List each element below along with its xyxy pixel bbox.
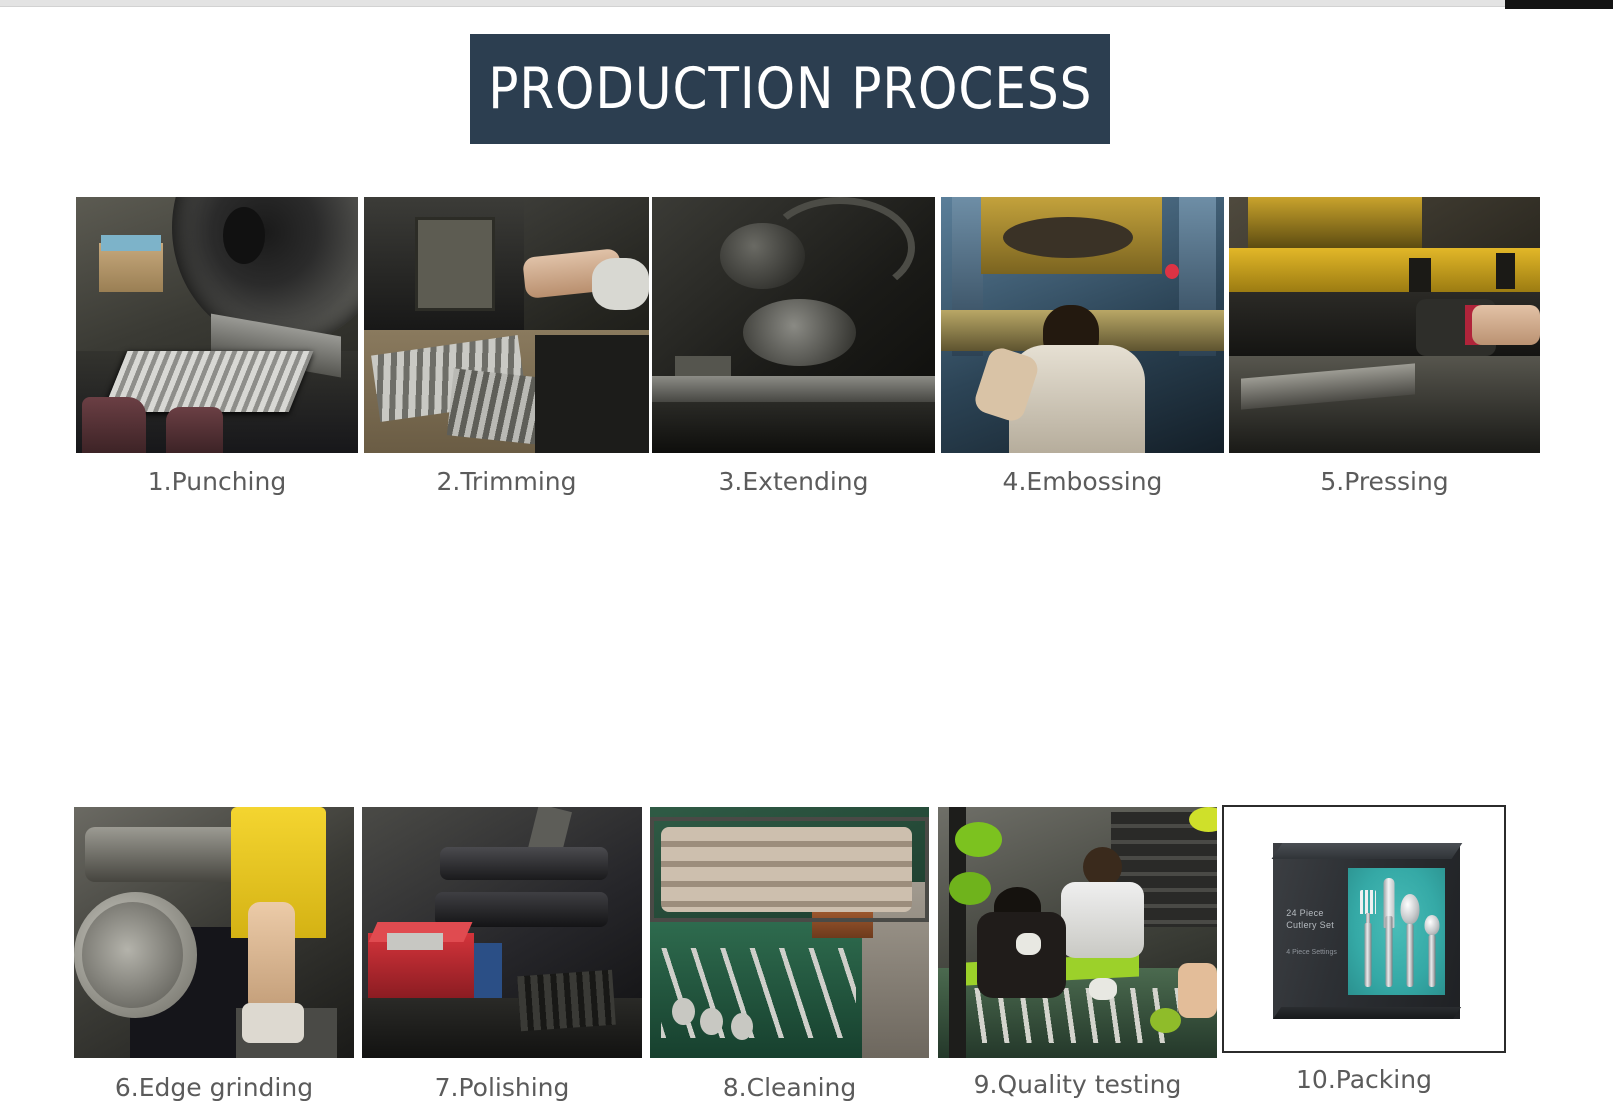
- process-photo-extending[interactable]: [652, 197, 935, 453]
- package-box-shape: 24 Piece Cutlery Set 4 Piece Settings: [1273, 843, 1460, 1019]
- machine-base-shape: [652, 402, 935, 453]
- roller-frame-shape: [650, 817, 929, 922]
- package-product-title-line2: Cutlery Set: [1286, 919, 1334, 931]
- worker-2-glove-shape: [1089, 978, 1117, 1001]
- page-title-banner: PRODUCTION PROCESS: [470, 34, 1110, 144]
- process-caption-packing: 10.Packing: [1296, 1067, 1432, 1092]
- worker-glove-left-shape: [82, 397, 147, 453]
- process-caption-cleaning: 8.Cleaning: [723, 1075, 856, 1100]
- indicator-light-shape: [1165, 264, 1179, 279]
- product-package: 24 Piece Cutlery Set 4 Piece Settings: [1260, 831, 1473, 1031]
- cylinder-shape: [743, 299, 856, 366]
- worker-leg-shape: [535, 335, 649, 453]
- process-step-extending[interactable]: 3.Extending: [652, 197, 935, 494]
- process-photo-embossing[interactable]: [941, 197, 1224, 453]
- process-caption-polishing: 7.Polishing: [435, 1075, 570, 1100]
- package-insert-shape: [1348, 868, 1445, 995]
- browser-top-strip: [0, 0, 1613, 7]
- process-row-2: 6.Edge grinding 7.Polishing: [0, 485, 1613, 815]
- carton-lid-shape: [101, 235, 160, 250]
- process-photo-packing[interactable]: 24 Piece Cutlery Set 4 Piece Settings: [1222, 805, 1506, 1053]
- worker-glove-right-shape: [166, 407, 222, 453]
- flywheel-hub-shape: [223, 207, 265, 263]
- yellow-press-bar-shape: [1229, 248, 1540, 292]
- teaspoon-bowl-shape: [1424, 915, 1439, 935]
- teaspoon-handle-shape: [1428, 935, 1435, 987]
- fork-handle-shape: [1365, 923, 1372, 987]
- worker-arm-shape: [1472, 305, 1540, 346]
- spoon-bowl-1-shape: [672, 998, 694, 1026]
- worker-glove-shape: [592, 258, 649, 309]
- knife-icon: [1378, 873, 1399, 987]
- polishing-roller-1-shape: [440, 847, 608, 880]
- process-step-embossing[interactable]: 4.Embossing: [941, 197, 1224, 494]
- process-step-packing[interactable]: 24 Piece Cutlery Set 4 Piece Settings 10…: [1222, 805, 1506, 1092]
- spoon-bowl-shape: [1401, 894, 1420, 924]
- knife-handle-shape: [1385, 916, 1392, 987]
- spoon-icon: [1399, 886, 1422, 987]
- process-photo-edge-grinding[interactable]: [74, 807, 354, 1058]
- spoon-handle-shape: [1407, 924, 1414, 987]
- worker-arm-shape: [248, 902, 296, 1012]
- process-caption-edge-grinding: 6.Edge grinding: [115, 1075, 313, 1100]
- worker-2-body-shape: [1061, 882, 1145, 957]
- press-slot-2-shape: [1496, 253, 1515, 289]
- press-head-shape: [720, 223, 805, 290]
- production-process-grid: 1.Punching 2.Trimming: [0, 175, 1613, 815]
- process-row-1: 1.Punching 2.Trimming: [0, 175, 1613, 485]
- plant-leaf-1-shape: [955, 822, 1002, 857]
- process-photo-polishing[interactable]: [362, 807, 642, 1058]
- drive-chain-shape: [517, 969, 616, 1031]
- browser-top-strip-right: [1505, 0, 1613, 9]
- worker-1-body-shape: [977, 912, 1066, 997]
- plant-leaf-2-shape: [949, 872, 991, 905]
- process-photo-quality-testing[interactable]: [938, 807, 1217, 1058]
- process-photo-pressing[interactable]: [1229, 197, 1540, 453]
- motor-plate-shape: [387, 933, 443, 951]
- green-container-shape: [1150, 1008, 1181, 1033]
- process-photo-trimming[interactable]: [364, 197, 649, 453]
- worker-glove-shape: [242, 1003, 304, 1043]
- process-step-quality-testing[interactable]: 9.Quality testing: [938, 807, 1217, 1097]
- process-caption-quality-testing: 9.Quality testing: [974, 1072, 1182, 1097]
- process-step-punching[interactable]: 1.Punching: [76, 197, 358, 494]
- package-lid-bottom-shape: [1273, 1007, 1461, 1019]
- process-step-pressing[interactable]: 5.Pressing: [1229, 197, 1540, 494]
- teaspoon-icon: [1421, 904, 1442, 988]
- package-product-title: 24 Piece Cutlery Set: [1286, 907, 1334, 931]
- package-product-subtitle: 4 Piece Settings: [1286, 949, 1337, 956]
- spoon-handles-shape: [661, 948, 856, 1038]
- worker-1-glove-shape: [1016, 933, 1041, 956]
- third-worker-arm-shape: [1178, 963, 1217, 1018]
- fork-tines-shape: [1360, 890, 1376, 915]
- press-frame-top-shape: [1248, 197, 1422, 248]
- process-photo-punching[interactable]: [76, 197, 358, 453]
- process-step-polishing[interactable]: 7.Polishing: [362, 807, 642, 1100]
- process-step-trimming[interactable]: 2.Trimming: [364, 197, 649, 494]
- spoon-bowl-2-shape: [700, 1008, 722, 1036]
- package-product-title-line1: 24 Piece: [1286, 907, 1334, 919]
- process-photo-cleaning[interactable]: [650, 807, 929, 1058]
- page-title: PRODUCTION PROCESS: [488, 56, 1092, 122]
- grinding-drum-inner-shape: [82, 902, 183, 1007]
- process-step-edge-grinding[interactable]: 6.Edge grinding: [74, 807, 354, 1100]
- process-step-cleaning[interactable]: 8.Cleaning: [650, 807, 929, 1100]
- machine-panel-shape: [415, 217, 495, 310]
